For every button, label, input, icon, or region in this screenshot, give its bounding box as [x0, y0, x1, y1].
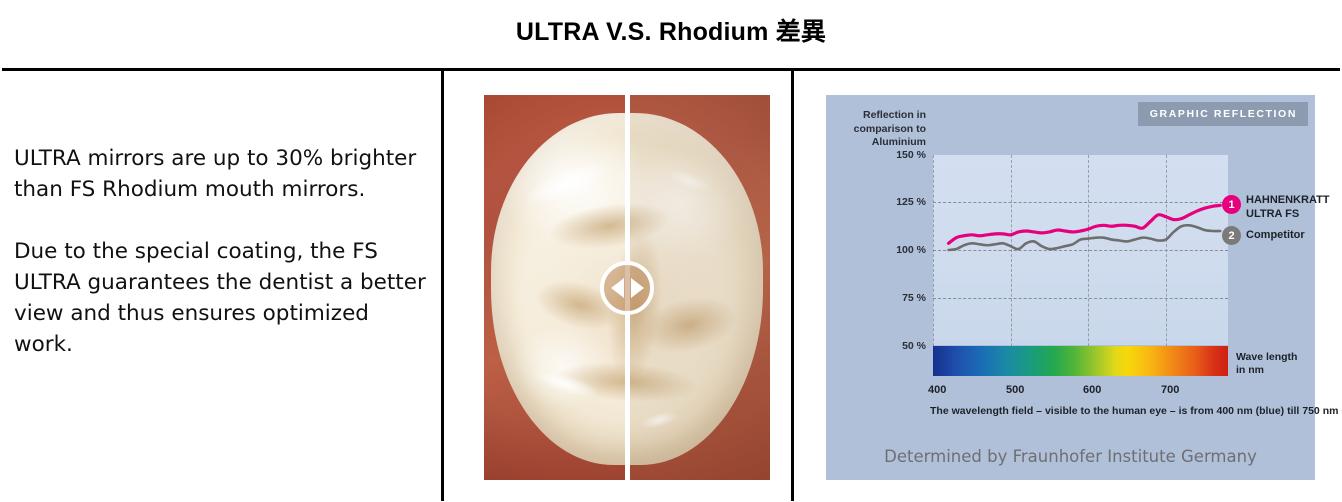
legend-label-ultra: HAHNENKRATTULTRA FS	[1246, 193, 1341, 221]
x-tick-700: 700	[1161, 384, 1179, 396]
legend-label-competitor: Competitor	[1246, 228, 1305, 242]
comparison-slider-handle[interactable]	[600, 261, 654, 315]
arrow-left-icon	[611, 278, 624, 298]
y-tick-150: 150 %	[830, 149, 926, 161]
y-tick-50: 50 %	[830, 340, 926, 352]
slide-root: ULTRA V.S. Rhodium 差異 ULTRA mirrors are …	[0, 0, 1342, 502]
x-axis-caption: The wavelength field – visible to the hu…	[930, 405, 1342, 417]
tooth-highlight	[517, 155, 612, 214]
y-tick-100: 100 %	[830, 244, 926, 256]
image-column	[444, 71, 794, 501]
wave-length-label: Wave lengthin nm	[1236, 351, 1297, 377]
page-title: ULTRA V.S. Rhodium 差異	[0, 12, 1342, 48]
legend-marker-1: 1	[1222, 195, 1241, 214]
y-tick-125: 125 %	[830, 196, 926, 208]
y-tick-75: 75 %	[830, 292, 926, 304]
description-block: ULTRA mirrors are up to 30% brighter tha…	[14, 143, 426, 360]
text-column: ULTRA mirrors are up to 30% brighter tha…	[2, 71, 444, 501]
spectrum-bar	[933, 346, 1228, 376]
paragraph-2: Due to the special coating, the FS ULTRA…	[14, 236, 426, 360]
reflection-chart: GRAPHIC REFLECTION Reflection incomparis…	[826, 95, 1315, 480]
chart-column: GRAPHIC REFLECTION Reflection incomparis…	[794, 71, 1340, 501]
chart-badge: GRAPHIC REFLECTION	[1138, 102, 1308, 126]
tooth-comparison-photo[interactable]	[484, 95, 770, 480]
series-lines	[933, 155, 1228, 345]
chart-source: Determined by Fraunhofer Institute Germa…	[826, 447, 1315, 466]
arrow-right-icon	[631, 278, 644, 298]
x-tick-500: 500	[1006, 384, 1024, 396]
legend-marker-2: 2	[1222, 226, 1241, 245]
x-tick-400: 400	[928, 384, 946, 396]
y-axis-title: Reflection incomparison toAluminium	[834, 109, 926, 150]
comparison-table: ULTRA mirrors are up to 30% brighter tha…	[2, 68, 1340, 501]
paragraph-1: ULTRA mirrors are up to 30% brighter tha…	[14, 143, 426, 205]
chart-svg	[933, 155, 1228, 345]
x-tick-600: 600	[1083, 384, 1101, 396]
